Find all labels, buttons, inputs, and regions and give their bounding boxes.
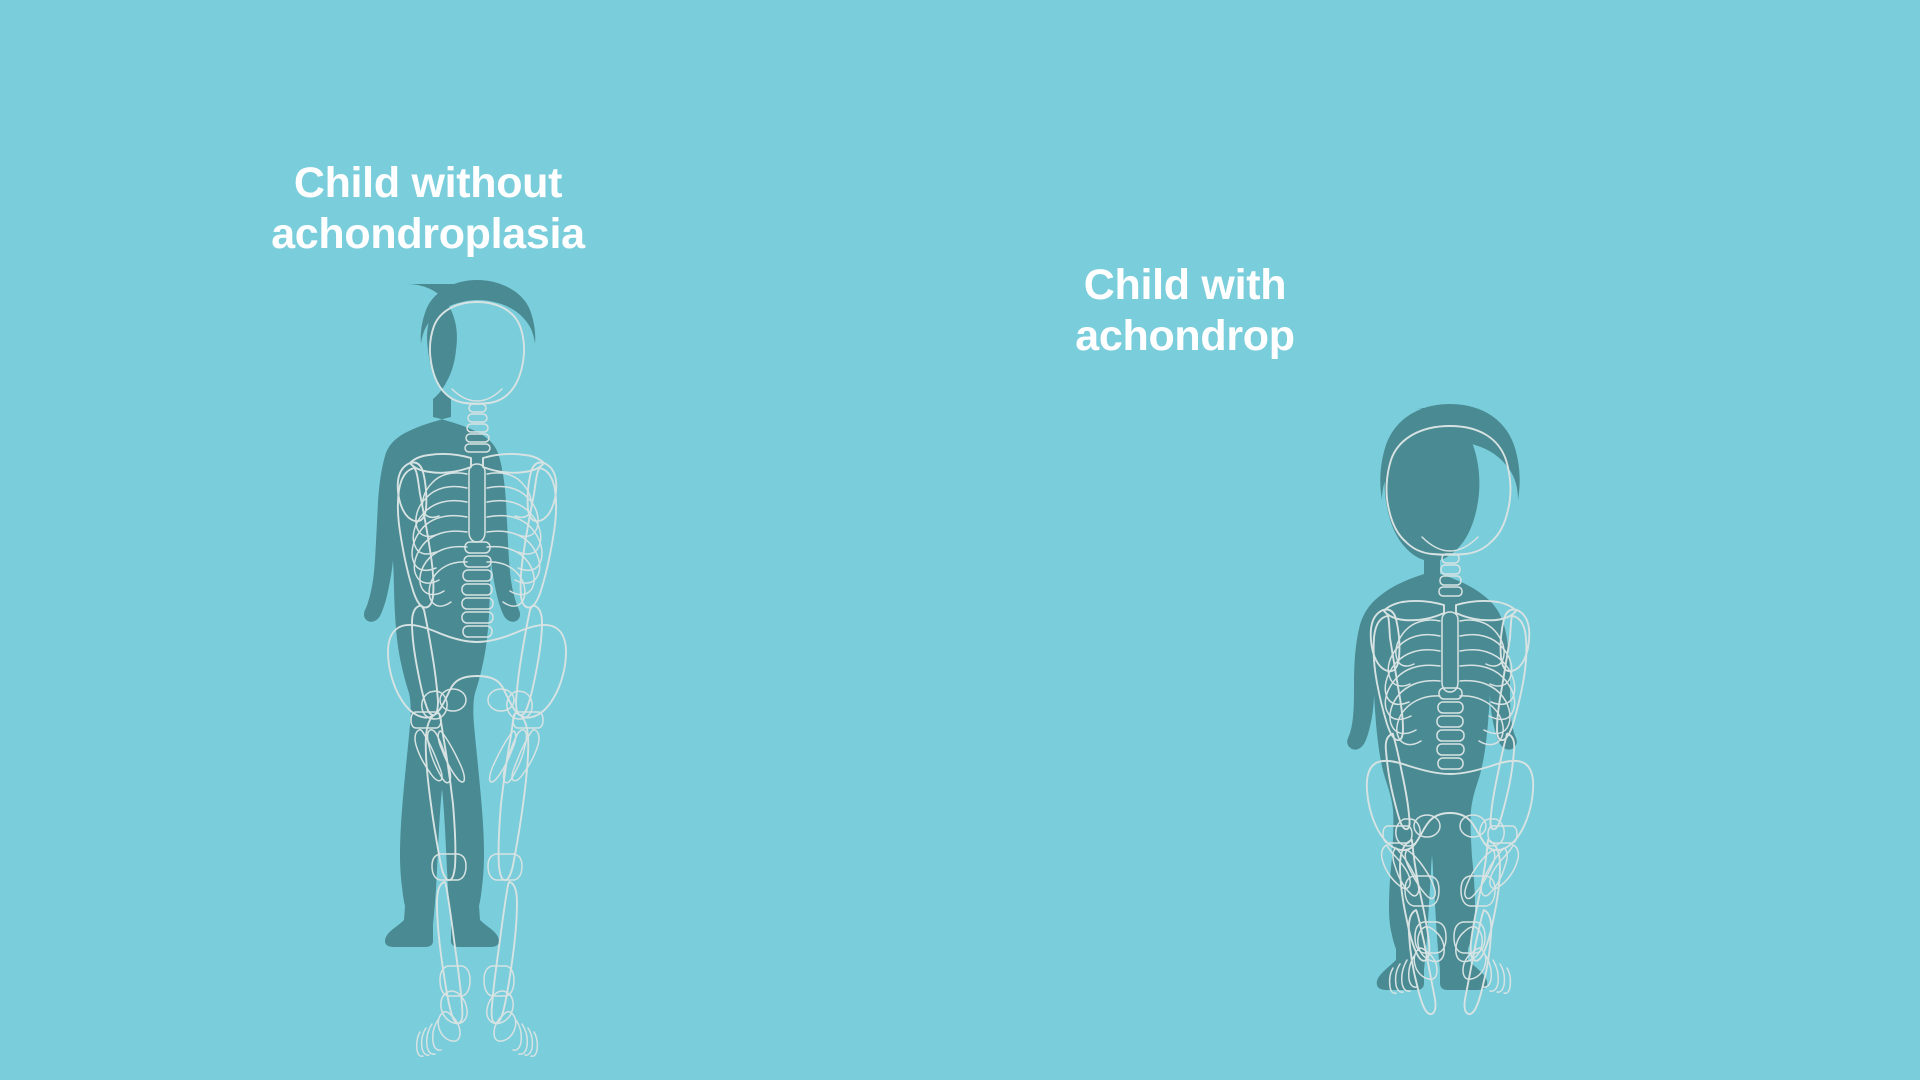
hand-right-bone <box>490 730 539 783</box>
skeleton-illustration-typical <box>352 276 602 976</box>
body-silhouette <box>364 280 535 947</box>
slide-canvas: Child without achondroplasia Child with … <box>0 0 1920 1080</box>
body-silhouette <box>1347 404 1519 990</box>
figure-child-without-achondroplasia <box>352 276 602 976</box>
label-child-with-achondroplasia: Child with achondrop <box>1020 260 1350 361</box>
foot-left-bone <box>417 991 468 1056</box>
radius-ulna-right-bone <box>516 606 542 716</box>
figure-child-with-achondroplasia <box>1330 402 1570 982</box>
scapula-right-bone <box>528 462 557 521</box>
label-child-without-achondroplasia: Child without achondroplasia <box>238 158 618 259</box>
skeleton-illustration-achondroplasia <box>1330 402 1570 982</box>
knee-right-bone <box>488 854 522 880</box>
obturator-foramen-right <box>488 689 514 711</box>
foot-right-bone <box>487 991 538 1056</box>
femur-right-bone <box>499 713 529 880</box>
mandible-bone <box>452 389 502 401</box>
